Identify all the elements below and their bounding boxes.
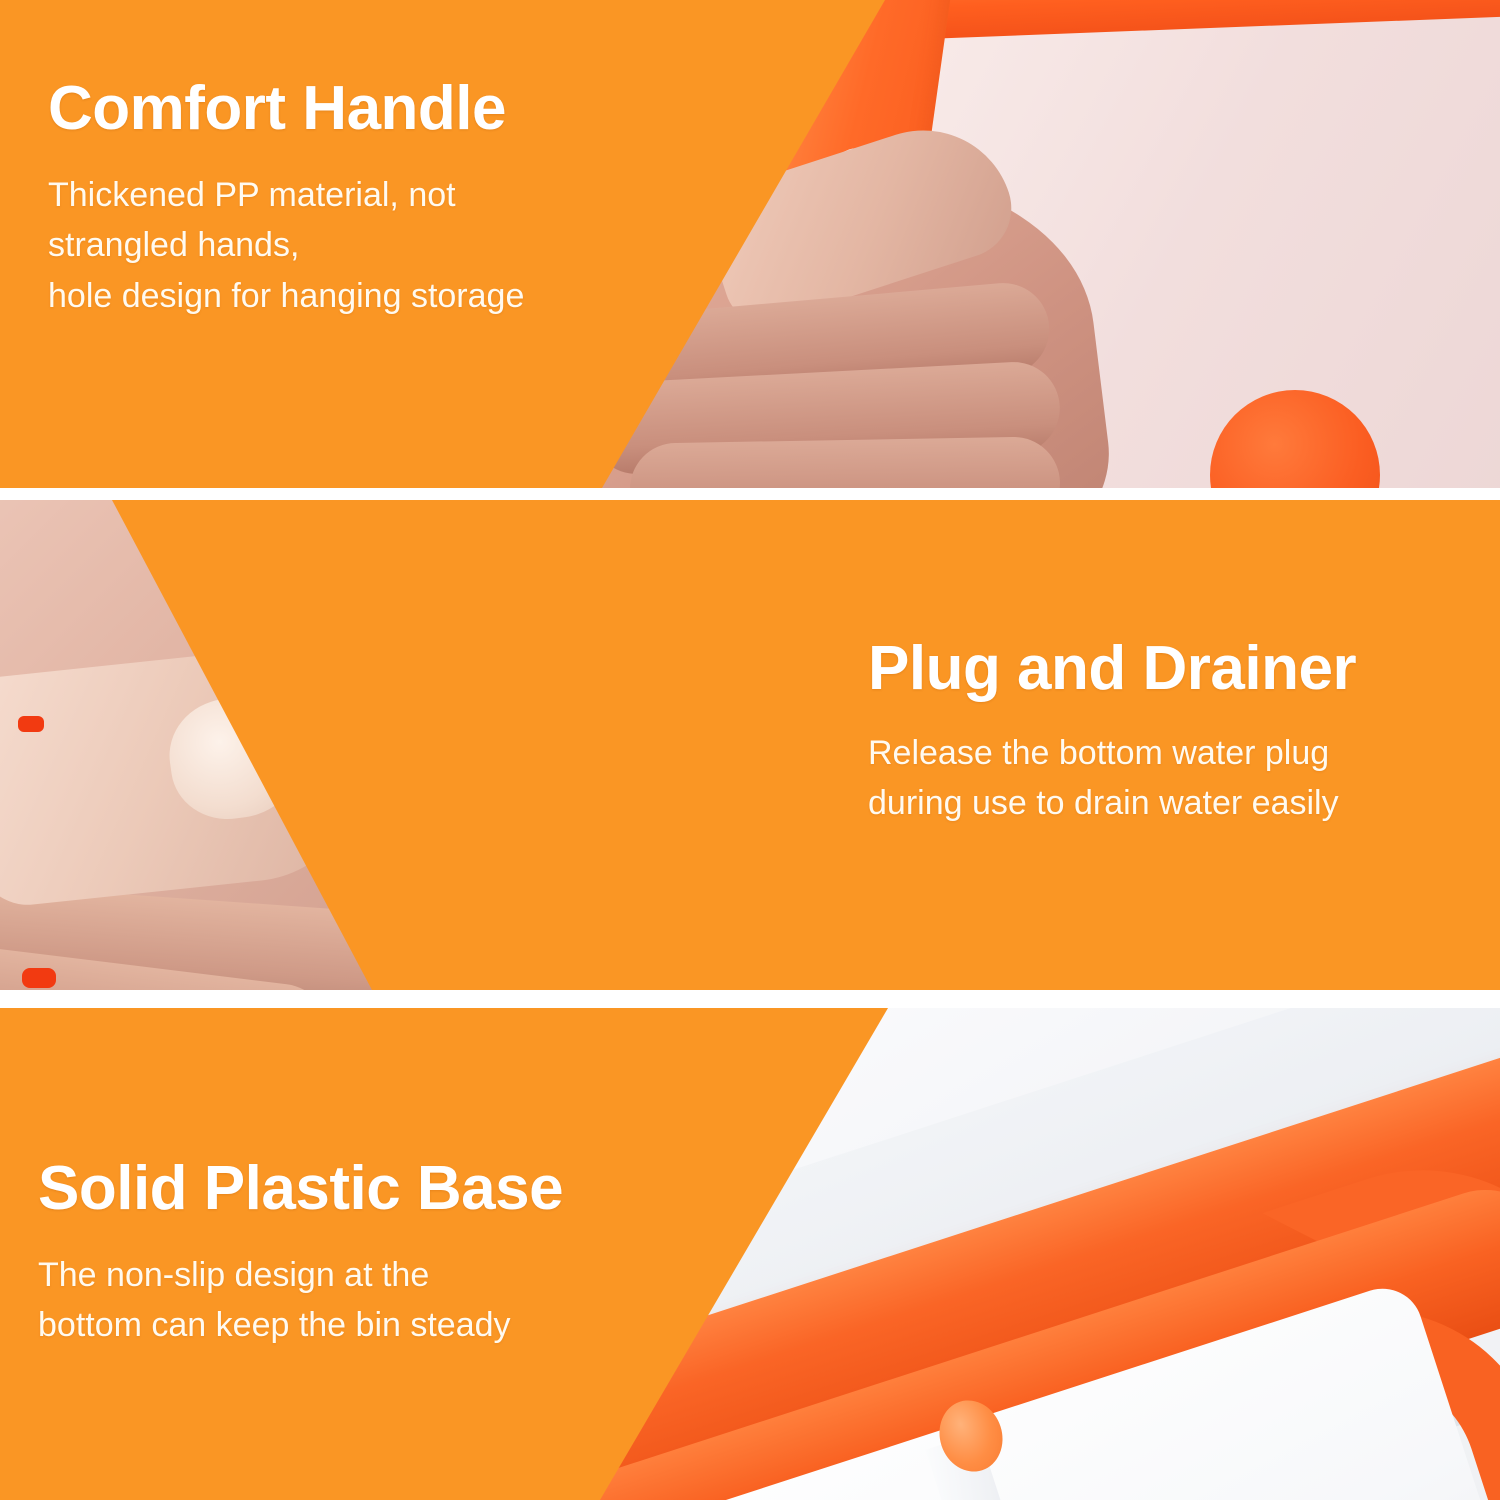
- red-accent-shape: [22, 968, 56, 988]
- feature-description-line: Release the bottom water plug: [868, 728, 1488, 778]
- feature-text-block: Comfort Handle Thickened PP material, no…: [48, 78, 688, 321]
- feature-text-block: Solid Plastic Base The non-slip design a…: [38, 1158, 738, 1351]
- feature-description: Release the bottom water plug during use…: [868, 728, 1488, 829]
- feature-text-block: Plug and Drainer Release the bottom wate…: [868, 638, 1488, 829]
- feature-description-line: hole design for hanging storage: [48, 271, 688, 321]
- feature-title: Solid Plastic Base: [38, 1158, 738, 1220]
- feature-panel-plug-and-drainer: Plug and Drainer Release the bottom wate…: [0, 500, 1500, 990]
- feature-description-line: Thickened PP material, not: [48, 170, 688, 220]
- feature-description-line: The non-slip design at the: [38, 1250, 738, 1300]
- feature-panel-solid-plastic-base: Solid Plastic Base The non-slip design a…: [0, 1008, 1500, 1500]
- feature-description: Thickened PP material, not strangled han…: [48, 170, 688, 321]
- feature-panel-comfort-handle: Comfort Handle Thickened PP material, no…: [0, 0, 1500, 488]
- feature-title: Plug and Drainer: [868, 638, 1488, 700]
- feature-title: Comfort Handle: [48, 78, 688, 140]
- feature-description-line: during use to drain water easily: [868, 778, 1488, 828]
- hand-finger-shape: [629, 436, 1061, 488]
- red-accent-shape: [18, 716, 44, 732]
- infographic-sheet: Comfort Handle Thickened PP material, no…: [0, 0, 1500, 1500]
- feature-description-line: bottom can keep the bin steady: [38, 1300, 738, 1350]
- feature-description: The non-slip design at the bottom can ke…: [38, 1250, 738, 1351]
- feature-description-line: strangled hands,: [48, 220, 688, 270]
